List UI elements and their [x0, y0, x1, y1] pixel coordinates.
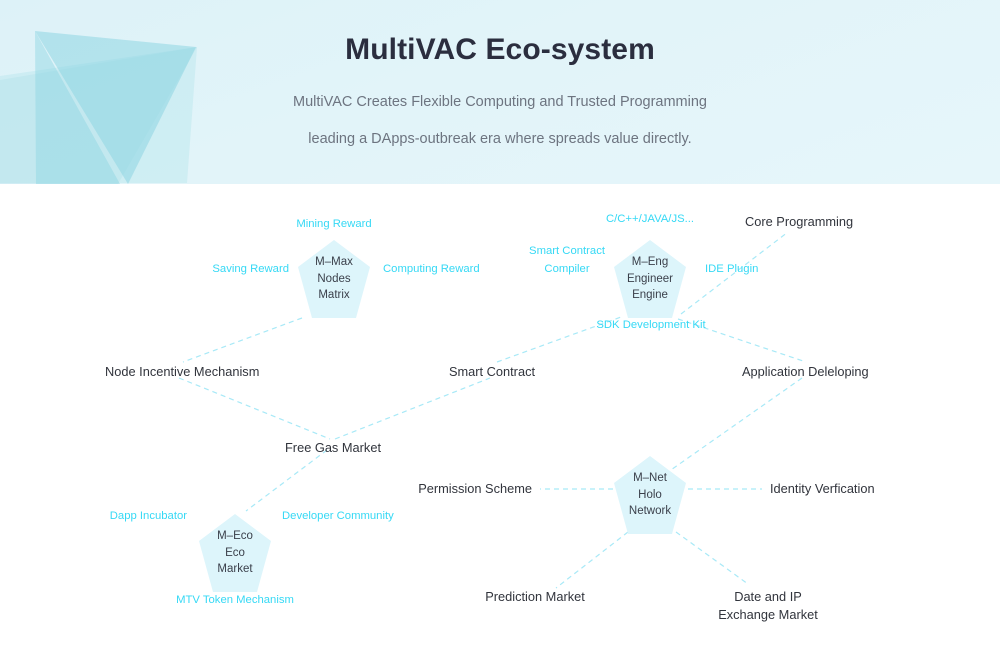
label-languages[interactable]: C/C++/JAVA/JS...: [606, 212, 694, 227]
label-date-ip-exchange-market[interactable]: Date and IP Exchange Market: [718, 588, 818, 624]
label-smart-contract[interactable]: Smart Contract: [449, 364, 535, 379]
node-label-line: Market: [199, 561, 271, 578]
node-label-m-net: M–Net Holo Network: [614, 470, 686, 520]
page-title: MultiVAC Eco-system: [0, 0, 1000, 67]
edge-mnet-to-prediction-market: [556, 532, 628, 588]
node-label-m-eco: M–Eco Eco Market: [199, 528, 271, 578]
node-label-line: Holo: [614, 487, 686, 504]
node-label-line: Nodes: [298, 271, 370, 288]
label-mining-reward[interactable]: Mining Reward: [296, 217, 371, 232]
node-label-line: M–Eng: [614, 254, 686, 271]
page-subtitle-line-1: MultiVAC Creates Flexible Computing and …: [0, 67, 1000, 110]
label-permission-scheme[interactable]: Permission Scheme: [418, 481, 532, 496]
node-m-eng-engineer-engine[interactable]: M–Eng Engineer Engine: [614, 240, 686, 318]
edge-mnet-to-date-ip-exchange: [676, 532, 748, 584]
edge-node-incentive-to-free-gas: [179, 378, 330, 439]
label-sdk-development-kit[interactable]: SDK Development Kit: [596, 318, 705, 333]
ecosystem-diagram: M–Max Nodes Matrix M–Eng Engineer Engine…: [0, 184, 1000, 669]
node-label-m-max: M–Max Nodes Matrix: [298, 254, 370, 304]
label-computing-reward[interactable]: Computing Reward: [383, 262, 480, 277]
label-prediction-market[interactable]: Prediction Market: [485, 589, 585, 604]
node-label-line: M–Net: [614, 470, 686, 487]
edge-free-gas-to-smart-contract: [335, 378, 490, 439]
node-m-max-nodes-matrix[interactable]: M–Max Nodes Matrix: [298, 240, 370, 318]
node-m-net-holo-network[interactable]: M–Net Holo Network: [614, 456, 686, 534]
node-m-eco-eco-market[interactable]: M–Eco Eco Market: [199, 514, 271, 592]
edge-application-developing-to-mnet: [668, 378, 802, 472]
header-text-block: MultiVAC Eco-system MultiVAC Creates Fle…: [0, 0, 1000, 146]
node-label-line: Network: [614, 503, 686, 520]
node-label-line: M–Max: [298, 254, 370, 271]
node-label-line: Matrix: [298, 287, 370, 304]
ecosystem-page: MultiVAC Eco-system MultiVAC Creates Fle…: [0, 0, 1000, 669]
label-core-programming[interactable]: Core Programming: [745, 214, 853, 229]
label-node-incentive-mechanism[interactable]: Node Incentive Mechanism: [105, 364, 259, 379]
label-dapp-incubator[interactable]: Dapp Incubator: [110, 509, 187, 524]
node-label-line: M–Eco: [199, 528, 271, 545]
label-line: Smart Contract: [529, 242, 605, 260]
label-free-gas-market[interactable]: Free Gas Market: [285, 440, 381, 455]
edge-free-gas-to-meco: [246, 450, 327, 511]
label-smart-contract-compiler[interactable]: Smart Contract Compiler: [529, 242, 605, 278]
label-mtv-token-mechanism[interactable]: MTV Token Mechanism: [176, 593, 294, 608]
node-label-line: Engineer: [614, 271, 686, 288]
edge-mmax-to-node-incentive: [183, 318, 302, 362]
label-saving-reward[interactable]: Saving Reward: [212, 262, 289, 277]
node-label-line: Eco: [199, 545, 271, 562]
label-line: Date and IP: [718, 588, 818, 606]
node-label-line: Engine: [614, 287, 686, 304]
label-ide-plugin[interactable]: IDE Plugin: [705, 262, 758, 277]
page-subtitle-line-2: leading a DApps-outbreak era where sprea…: [0, 110, 1000, 147]
label-application-developing[interactable]: Application Deleloping: [742, 364, 869, 379]
label-developer-community[interactable]: Developer Community: [282, 509, 394, 524]
node-label-m-eng: M–Eng Engineer Engine: [614, 254, 686, 304]
label-line: Exchange Market: [718, 606, 818, 624]
label-identity-verification[interactable]: Identity Verfication: [770, 481, 875, 496]
label-line: Compiler: [529, 260, 605, 278]
page-header: MultiVAC Eco-system MultiVAC Creates Fle…: [0, 0, 1000, 184]
